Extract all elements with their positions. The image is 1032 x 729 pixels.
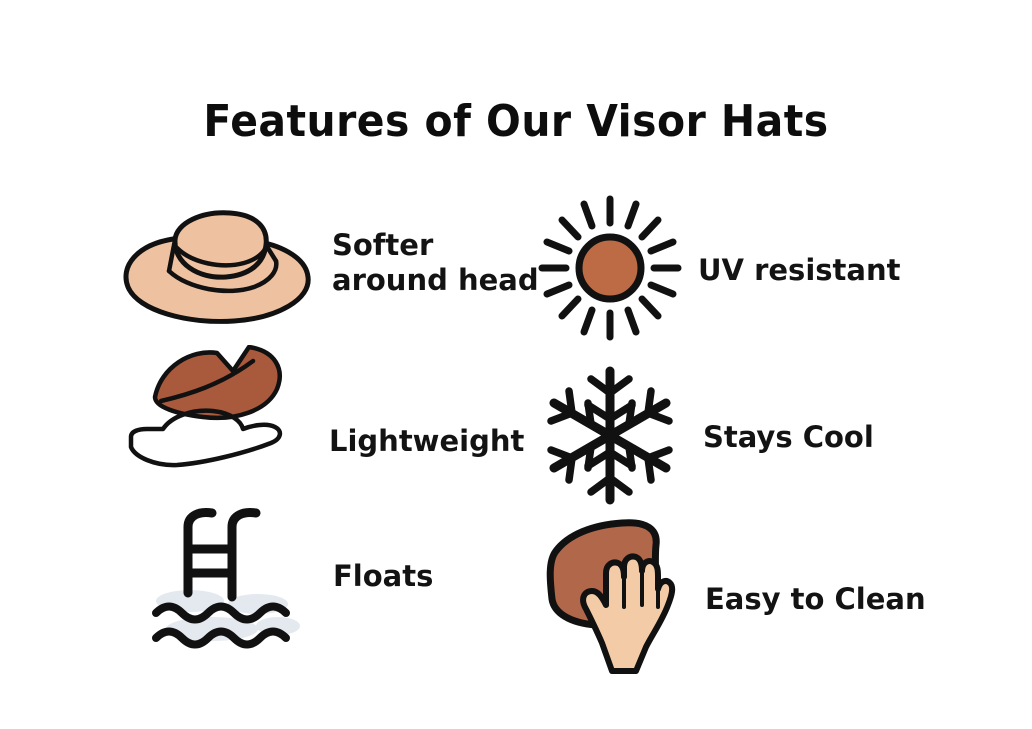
pool-ladder-water-icon — [150, 505, 325, 660]
leaf-on-hand-icon — [125, 345, 315, 485]
feature-label: UV resistant — [698, 253, 900, 288]
sun-hat-icon — [118, 193, 318, 333]
feature-floats[interactable]: Floats — [150, 505, 433, 660]
features-grid: Softer around head — [0, 185, 1032, 705]
feature-softer-around-head[interactable]: Softer around head — [118, 193, 539, 333]
feature-stays-cool[interactable]: Stays Cool — [535, 363, 874, 513]
sun-icon — [530, 193, 690, 348]
feature-lightweight[interactable]: Lightweight — [125, 345, 524, 485]
infographic-canvas: Features of Our Visor Hats — [0, 0, 1032, 729]
feature-label: Easy to Clean — [705, 582, 926, 617]
feature-uv-resistant[interactable]: UV resistant — [530, 193, 900, 348]
snowflake-icon — [535, 363, 685, 513]
feature-label: Stays Cool — [703, 420, 874, 455]
feature-label: Lightweight — [329, 424, 524, 459]
page-title: Features of Our Visor Hats — [36, 96, 996, 147]
hand-wiping-cloth-icon — [540, 515, 695, 680]
feature-label: Floats — [333, 559, 433, 594]
feature-easy-to-clean[interactable]: Easy to Clean — [540, 515, 926, 680]
feature-label: Softer around head — [332, 228, 539, 299]
